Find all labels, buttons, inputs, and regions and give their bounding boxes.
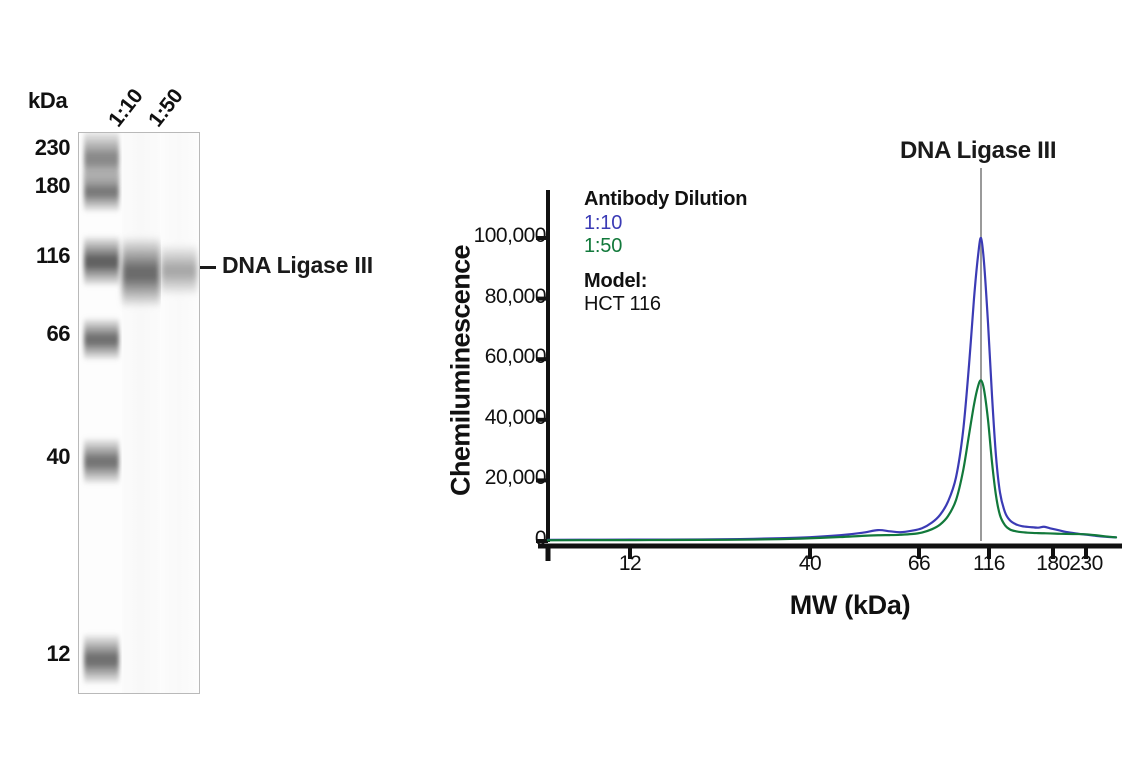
blot-mw-tick-230: 230	[18, 135, 70, 161]
chemiluminescence-chart-panel: DNA Ligase III Chemiluminescence MW (kDa…	[400, 0, 1141, 768]
blot-marker-band-66	[84, 317, 119, 361]
blot-lane-1-10	[122, 133, 160, 693]
blot-image	[78, 132, 200, 694]
blot-mw-tick-column: 230180116664012	[18, 0, 70, 768]
blot-marker-band-180	[84, 169, 119, 213]
blot-mw-tick-40: 40	[18, 444, 70, 470]
blot-marker-band-40	[84, 437, 119, 485]
blot-marker-band-116	[84, 235, 119, 288]
chart-series-1-50	[548, 380, 1116, 540]
blot-annotation-dash	[200, 266, 216, 269]
figure-root: kDa 1:10 1:50 230180116664012 DNA Ligase…	[0, 0, 1141, 768]
chart-plot-area	[400, 0, 1141, 768]
blot-lane-marker	[84, 133, 119, 693]
blot-mw-tick-66: 66	[18, 321, 70, 347]
blot-mw-tick-180: 180	[18, 173, 70, 199]
blot-lane-label-1: 1:10	[104, 85, 148, 132]
blot-lane-1-50	[161, 133, 197, 693]
blot-sample-band-1-50	[161, 244, 197, 296]
western-blot-panel: kDa 1:10 1:50 230180116664012 DNA Ligase…	[0, 0, 420, 768]
blot-marker-band-12	[84, 633, 119, 686]
blot-lane-label-2: 1:50	[144, 85, 188, 132]
blot-mw-tick-12: 12	[18, 641, 70, 667]
blot-annotation-label: DNA Ligase III	[222, 252, 373, 279]
chart-series-1-10	[548, 238, 1116, 540]
blot-sample-band-1-10	[122, 236, 160, 309]
blot-mw-tick-116: 116	[18, 243, 70, 269]
